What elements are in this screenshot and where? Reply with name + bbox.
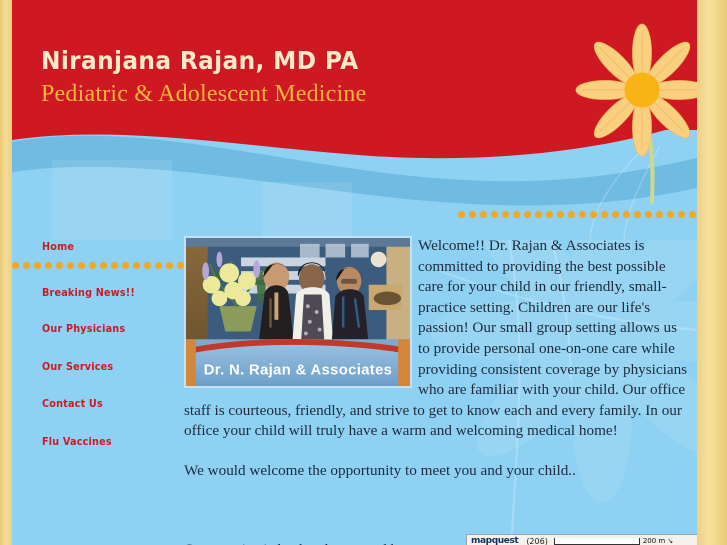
orange-dot-icon [480,211,487,218]
orange-dot-icon [612,211,619,218]
office-photo: Dr. N. Rajan & Associates [184,236,412,388]
map-resize-arrow-icon[interactable]: ↘ [667,537,673,545]
orange-dot-icon [546,211,553,218]
orange-dot-icon [491,211,498,218]
map-area-code: (206) [526,537,548,545]
orange-dot-icon [535,211,542,218]
orange-dot-icon [458,211,465,218]
map-scale-bar [554,538,640,545]
page-border-left [0,0,12,545]
page-subtitle: Pediatric & Adolescent Medicine [41,81,382,107]
sidebar-item-home[interactable]: Home [42,242,166,253]
orange-dot-icon [667,211,674,218]
map-scale-label: 200 m [643,537,665,545]
svg-text:Dr. N. Rajan & Associates: Dr. N. Rajan & Associates [204,362,392,378]
sidebar-item-our-services[interactable]: Our Services [42,362,166,373]
orange-dot-icon [601,211,608,218]
orange-dot-icon [634,211,641,218]
orange-dot-icon [469,211,476,218]
sidebar-item-contact-us[interactable]: Contact Us [42,399,166,410]
orange-dot-icon [12,262,19,269]
page-canvas: Niranjana Rajan, MD PA Pediatric & Adole… [12,0,697,545]
office-photo-image: Dr. N. Rajan & Associates [186,238,410,386]
sidebar-item-our-physicians[interactable]: Our Physicians [42,324,166,335]
welcome-paragraph-3-cut: Our practice is lead and managed by [184,540,406,545]
page-border-right [697,0,727,545]
orange-dot-icon [645,211,652,218]
orange-dot-icon [689,211,696,218]
orange-dot-icon [623,211,630,218]
sidebar-item-breaking-news[interactable]: Breaking News!! [42,288,166,299]
orange-dot-icon [568,211,575,218]
masthead: Niranjana Rajan, MD PA Pediatric & Adole… [41,48,382,108]
orange-dot-icon [34,262,41,269]
orange-dot-icon [678,211,685,218]
orange-dot-icon [502,211,509,218]
sidebar-item-flu-vaccines[interactable]: Flu Vaccines [42,437,166,448]
welcome-paragraph-2: We would welcome the opportunity to meet… [184,461,691,482]
daisy-flower-icon [572,20,697,220]
page-title: Niranjana Rajan, MD PA [41,48,358,74]
dot-divider-header [458,211,697,218]
mapquest-logo: mapquest [471,536,518,545]
orange-dot-icon [23,262,30,269]
orange-dot-icon [557,211,564,218]
orange-dot-icon [524,211,531,218]
orange-dot-icon [656,211,663,218]
sidebar-nav: Home Breaking News!! Our Physicians Our … [42,242,177,447]
mapquest-widget[interactable]: mapquest (206) 200 m ↘ [466,534,697,545]
orange-dot-icon [579,211,586,218]
orange-dot-icon [177,262,184,269]
page-root: Niranjana Rajan, MD PA Pediatric & Adole… [0,0,727,545]
orange-dot-icon [590,211,597,218]
orange-dot-icon [513,211,520,218]
